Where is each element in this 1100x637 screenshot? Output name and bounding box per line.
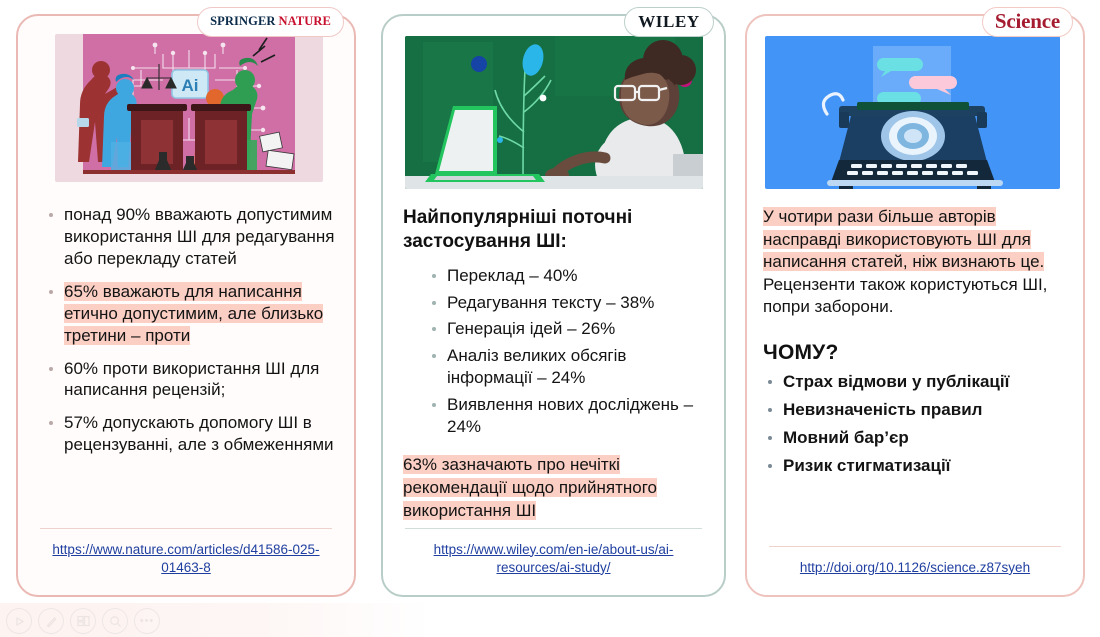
science-logo: Science (995, 9, 1060, 34)
svg-text:Ai: Ai (182, 76, 199, 95)
science-source-block: http://doi.org/10.1126/science.z87syeh (769, 546, 1061, 577)
source-link-wiley[interactable]: https://www.wiley.com/en-ie/about-us/ai-… (405, 541, 702, 577)
card-springer-nature: SPRINGERNATURE (16, 14, 356, 597)
list-item: Мовний бар’єр (763, 427, 1069, 449)
springer-source-block: https://www.nature.com/articles/d41586-0… (40, 528, 332, 577)
wiley-heading: Найпопулярніші поточні застосування ШІ: (403, 206, 710, 255)
bullet-text: Аналіз великих обсягів інформації – 24% (447, 346, 626, 387)
list-item: понад 90% вважають допустимим використан… (42, 204, 338, 270)
springer-body: понад 90% вважають допустимим використан… (42, 204, 338, 467)
bullet-text: 60% проти використання ШІ для написання … (64, 359, 319, 400)
science-paragraph: У чотири рази більше авторів насправді в… (763, 206, 1069, 319)
list-item: Страх відмови у публікації (763, 371, 1069, 393)
list-item: 65% вважають для написання етично допуст… (42, 281, 338, 347)
list-item: Переклад – 40% (425, 265, 710, 287)
list-item: Невизначеність правил (763, 399, 1069, 421)
wiley-note-text-highlighted: 63% зазначають про нечіткі рекомендації … (403, 455, 657, 520)
bullet-text: Виявлення нових досліджень – 24% (447, 395, 693, 436)
wiley-bullet-list: Переклад – 40% Редагування тексту – 38% … (425, 265, 710, 438)
card-wiley: WILEY (381, 14, 726, 597)
list-item: Ризик стигматизації (763, 455, 1069, 477)
bullet-text: Страх відмови у публікації (783, 372, 1009, 391)
hero-image-typewriter-with-chat-bubbles (765, 36, 1060, 189)
bullet-text: Мовний бар’єр (783, 428, 909, 447)
bullet-text: Редагування тексту – 38% (447, 293, 654, 312)
wiley-body: Найпопулярніші поточні застосування ШІ: … (403, 206, 710, 539)
bullet-text: Невизначеність правил (783, 400, 982, 419)
logo-pill-wiley: WILEY (624, 7, 714, 37)
bullet-text: понад 90% вважають допустимим використан… (64, 205, 335, 268)
divider (769, 546, 1061, 547)
slide-canvas: SPRINGERNATURE (0, 0, 1100, 637)
list-item: 57% допускають допомогу ШІ в рецензуванн… (42, 412, 338, 456)
source-link-nature[interactable]: https://www.nature.com/articles/d41586-0… (40, 541, 332, 577)
hero-image-debate-illustration: Ai (55, 34, 323, 182)
search-icon[interactable] (102, 608, 128, 634)
pen-icon[interactable] (38, 608, 64, 634)
wiley-note: 63% зазначають про нечіткі рекомендації … (403, 454, 710, 522)
list-item: 60% проти використання ШІ для написання … (42, 358, 338, 402)
science-paragraph-highlighted: У чотири рази більше авторів насправді в… (763, 207, 1044, 271)
science-body: У чотири рази більше авторів насправді в… (763, 206, 1069, 483)
more-icon[interactable]: ••• (134, 608, 160, 634)
wiley-source-block: https://www.wiley.com/en-ie/about-us/ai-… (405, 528, 702, 577)
bullet-text: 57% допускають допомогу ШІ в рецензуванн… (64, 413, 334, 454)
slideshow-toolbar: ••• (6, 608, 160, 634)
source-link-science[interactable]: http://doi.org/10.1126/science.z87syeh (769, 559, 1061, 577)
springer-bullet-list: понад 90% вважають допустимим використан… (42, 204, 338, 456)
play-icon[interactable] (6, 608, 32, 634)
apps-icon[interactable] (70, 608, 96, 634)
divider (40, 528, 332, 529)
logo-pill-springer-nature: SPRINGERNATURE (197, 7, 344, 37)
list-item: Генерація ідей – 26% (425, 318, 710, 340)
logo-pill-science: Science (982, 7, 1073, 37)
springer-nature-logo: SPRINGERNATURE (210, 14, 331, 29)
divider (405, 528, 702, 529)
bullet-text: Ризик стигматизації (783, 456, 950, 475)
list-item: Виявлення нових досліджень – 24% (425, 394, 710, 438)
bullet-text-highlighted: 65% вважають для написання етично допуст… (64, 282, 323, 345)
science-heading: ЧОМУ? (763, 341, 1069, 365)
bullet-text: Генерація ідей – 26% (447, 319, 615, 338)
logo-text-springer: SPRINGER (210, 14, 275, 28)
bullet-text: Переклад – 40% (447, 266, 577, 285)
list-item: Редагування тексту – 38% (425, 292, 710, 314)
science-bullet-list: Страх відмови у публікації Невизначеніст… (763, 371, 1069, 477)
science-paragraph-rest: Рецензенти також користуються ШІ, попри … (763, 275, 1047, 317)
logo-text-nature: NATURE (279, 14, 331, 28)
list-item: Аналіз великих обсягів інформації – 24% (425, 345, 710, 389)
more-icon-label: ••• (140, 615, 155, 627)
wiley-logo: WILEY (638, 12, 700, 32)
hero-image-researcher-at-laptop (405, 36, 703, 189)
card-science: Science (745, 14, 1085, 597)
